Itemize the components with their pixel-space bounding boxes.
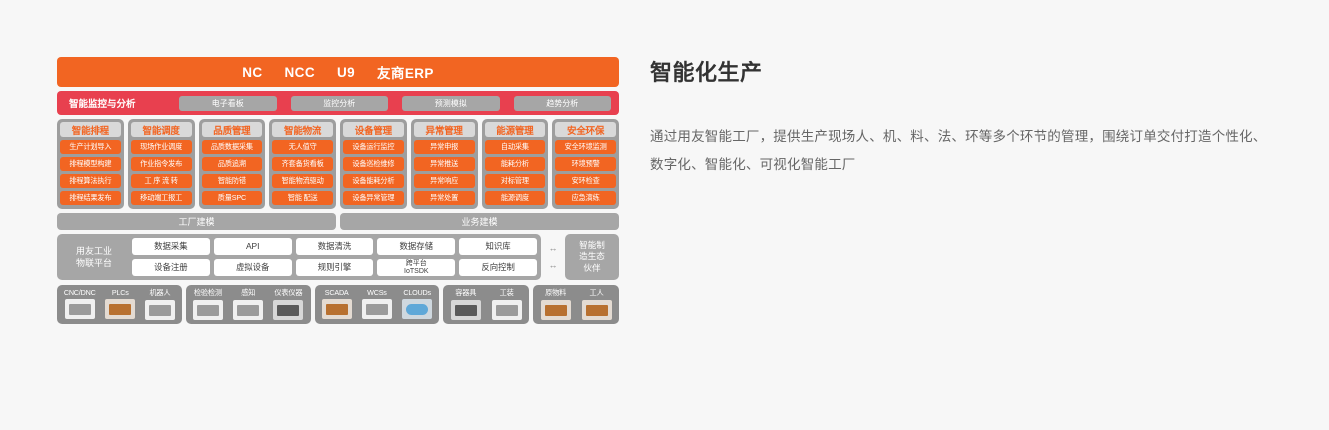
function-column-item[interactable]: 设备异常管理 (343, 191, 404, 205)
function-column-title: 能源管理 (485, 122, 546, 137)
partner-label-line3: 伙伴 (579, 263, 605, 274)
iot-platform-label: 用友工业 物联平台 (61, 245, 127, 269)
function-column-item[interactable]: 环境预警 (555, 157, 616, 171)
device-label: 工人 (590, 288, 604, 298)
cloud-icon (402, 299, 432, 319)
partner-label-line1: 智能制 (579, 240, 605, 251)
erp-product-item[interactable]: U9 (337, 65, 355, 80)
device-item[interactable]: PLCs (105, 288, 135, 320)
function-column-item[interactable]: 生产计划导入 (60, 140, 121, 154)
wcs-machine-icon (362, 299, 392, 319)
device-label: 容器具 (455, 288, 476, 298)
ecosystem-partner-box: 智能制 造生态 伙伴 (565, 234, 619, 280)
function-column-item[interactable]: 排程结果发布 (60, 191, 121, 205)
function-column-item[interactable]: 设备能耗分析 (343, 174, 404, 188)
function-column-item[interactable]: 异常响应 (414, 174, 475, 188)
device-layer-row: CNC/DNCPLCs机器人检验检测感知仪表仪器SCADAWCSsCLOUDs容… (57, 285, 619, 324)
iot-capability-cell[interactable]: 规则引擎 (296, 259, 374, 276)
bidirectional-arrow-icon: ↔ (549, 244, 558, 253)
device-label: 机器人 (149, 288, 170, 298)
iot-platform-row: 用友工业 物联平台 数据采集API数据清洗数据存储知识库设备注册虚拟设备规则引擎… (57, 234, 619, 280)
container-box-icon (451, 300, 481, 320)
device-item[interactable]: 容器具 (451, 288, 481, 320)
function-column-item[interactable]: 智能物流驱动 (272, 174, 333, 188)
function-column: 能源管理自动采集能耗分析对标管理能源调度 (482, 119, 549, 209)
function-column-item[interactable]: 现场作业调度 (131, 140, 192, 154)
device-group: 检验检测感知仪表仪器 (186, 285, 311, 324)
tooling-fixture-icon (492, 300, 522, 320)
device-group: CNC/DNCPLCs机器人 (57, 285, 182, 324)
function-column-item[interactable]: 智能防错 (202, 174, 263, 188)
function-column: 品质管理品质数据采集品质追溯智能防错质量SPC (199, 119, 266, 209)
function-column-item[interactable]: 自动采集 (485, 140, 546, 154)
device-label: 仪表仪器 (274, 288, 302, 298)
monitoring-chip-list: 电子看板监控分析预测模拟趋势分析 (179, 96, 611, 111)
iot-capability-cell[interactable]: 虚拟设备 (214, 259, 292, 276)
raw-material-icon (541, 300, 571, 320)
iot-platform-panel: 用友工业 物联平台 数据采集API数据清洗数据存储知识库设备注册虚拟设备规则引擎… (57, 234, 541, 280)
monitoring-chip[interactable]: 监控分析 (291, 96, 389, 111)
device-group: SCADAWCSsCLOUDs (315, 285, 440, 324)
function-column-item[interactable]: 作业指令发布 (131, 157, 192, 171)
iot-capability-cell[interactable]: 知识库 (459, 238, 537, 255)
cnc-machine-icon (65, 299, 95, 319)
function-column: 智能排程生产计划导入排程模型构建排程算法执行排程结果发布 (57, 119, 124, 209)
scada-screen-icon (322, 299, 352, 319)
function-column: 智能物流无人值守齐套备货看板智能物流驱动智能 配送 (269, 119, 336, 209)
device-item[interactable]: SCADA (322, 288, 352, 320)
iot-capability-line: IoTSDK (404, 268, 429, 276)
device-group: 原物料工人 (533, 285, 619, 324)
function-column: 安全环保安全环境监测环境预警安环检查应急演练 (552, 119, 619, 209)
monitoring-band-title: 智能监控与分析 (65, 96, 173, 110)
device-label: 检验检测 (194, 288, 222, 298)
robot-arm-icon (145, 300, 175, 320)
erp-product-item[interactable]: 友商ERP (377, 62, 434, 82)
function-column-item[interactable]: 应急演练 (555, 191, 616, 205)
modeling-cell[interactable]: 业务建模 (340, 213, 619, 230)
smart-factory-architecture-diagram: NCNCCU9友商ERP 智能监控与分析 电子看板监控分析预测模拟趋势分析 智能… (57, 57, 619, 324)
iot-capability-cell[interactable]: 反向控制 (459, 259, 537, 276)
function-column-title: 智能排程 (60, 122, 121, 137)
function-column-item[interactable]: 设备巡检维修 (343, 157, 404, 171)
monitoring-chip[interactable]: 趋势分析 (514, 96, 612, 111)
device-item[interactable]: WCSs (362, 288, 392, 320)
function-column-item[interactable]: 排程模型构建 (60, 157, 121, 171)
function-column-item[interactable]: 工 序 流 转 (131, 174, 192, 188)
function-columns: 智能排程生产计划导入排程模型构建排程算法执行排程结果发布智能调度现场作业调度作业… (57, 119, 619, 209)
function-column-item[interactable]: 异常处置 (414, 191, 475, 205)
device-item[interactable]: 检验检测 (193, 288, 223, 320)
device-item[interactable]: 仪表仪器 (273, 288, 303, 320)
function-column-item[interactable]: 能源调度 (485, 191, 546, 205)
function-column-item[interactable]: 安全环境监测 (555, 140, 616, 154)
device-label: CNC/DNC (64, 288, 96, 297)
iot-capability-cell[interactable]: 跨平台IoTSDK (377, 259, 455, 276)
modeling-cell[interactable]: 工厂建模 (57, 213, 336, 230)
device-label: PLCs (112, 288, 129, 297)
partner-label-line2: 造生态 (579, 251, 605, 262)
plc-controller-icon (105, 299, 135, 319)
monitoring-chip[interactable]: 预测模拟 (402, 96, 500, 111)
device-label: WCSs (367, 288, 387, 297)
iot-partner-connectors: ↔ ↔ (545, 234, 561, 280)
device-item[interactable]: CLOUDs (402, 288, 432, 320)
function-column-item[interactable]: 质量SPC (202, 191, 263, 205)
device-label: 原物料 (545, 288, 566, 298)
function-column: 设备管理设备运行监控设备巡检维修设备能耗分析设备异常管理 (340, 119, 407, 209)
erp-product-item[interactable]: NCC (285, 65, 315, 80)
iot-capability-line: 跨平台 (404, 260, 429, 268)
intelligent-monitoring-band: 智能监控与分析 电子看板监控分析预测模拟趋势分析 (57, 91, 619, 115)
page-root: NCNCCU9友商ERP 智能监控与分析 电子看板监控分析预测模拟趋势分析 智能… (0, 0, 1329, 430)
device-item[interactable]: 原物料 (541, 288, 571, 320)
iot-platform-label-line2: 物联平台 (61, 257, 127, 269)
function-column-item[interactable]: 排程算法执行 (60, 174, 121, 188)
device-item[interactable]: 工装 (492, 288, 522, 320)
function-column-item[interactable]: 安环检查 (555, 174, 616, 188)
modeling-row: 工厂建模业务建模 (57, 213, 619, 230)
function-column-title: 智能物流 (272, 122, 333, 137)
function-column-title: 品质管理 (202, 122, 263, 137)
description-text: 通过用友智能工厂，提供生产现场人、机、料、法、环等多个环节的管理，围绕订单交付打… (650, 123, 1270, 178)
function-column-title: 智能调度 (131, 122, 192, 137)
function-column-item[interactable]: 移动端工报工 (131, 191, 192, 205)
function-column-item[interactable]: 异常推送 (414, 157, 475, 171)
device-label: 工装 (500, 288, 514, 298)
sensor-display-icon (233, 300, 263, 320)
inspection-device-icon (193, 300, 223, 320)
bidirectional-arrow-icon: ↔ (549, 261, 558, 270)
function-column-item[interactable]: 品质追溯 (202, 157, 263, 171)
iot-capability-cell[interactable]: API (214, 238, 292, 255)
description-pane: 智能化生产 通过用友智能工厂，提供生产现场人、机、料、法、环等多个环节的管理，围… (650, 55, 1270, 178)
gauge-meter-icon (273, 300, 303, 320)
iot-platform-label-line1: 用友工业 (61, 245, 127, 257)
device-item[interactable]: 感知 (233, 288, 263, 320)
device-item[interactable]: 工人 (582, 288, 612, 320)
erp-product-bar: NCNCCU9友商ERP (57, 57, 619, 87)
device-item[interactable]: 机器人 (145, 288, 175, 320)
iot-capability-cell[interactable]: 数据存储 (377, 238, 455, 255)
function-column-title: 异常管理 (414, 122, 475, 137)
monitoring-chip[interactable]: 电子看板 (179, 96, 277, 111)
function-column-item[interactable]: 设备运行监控 (343, 140, 404, 154)
function-column-item[interactable]: 能耗分析 (485, 157, 546, 171)
function-column-item[interactable]: 对标管理 (485, 174, 546, 188)
device-item[interactable]: CNC/DNC (64, 288, 96, 320)
function-column-item[interactable]: 智能 配送 (272, 191, 333, 205)
function-column-item[interactable]: 异常申报 (414, 140, 475, 154)
device-group: 容器具工装 (443, 285, 529, 324)
erp-product-item[interactable]: NC (242, 65, 262, 80)
function-column-item[interactable]: 无人值守 (272, 140, 333, 154)
function-column-title: 安全环保 (555, 122, 616, 137)
worker-icon (582, 300, 612, 320)
iot-capability-cell[interactable]: 数据采集 (132, 238, 210, 255)
device-label: 感知 (241, 288, 255, 298)
function-column-item[interactable]: 齐套备货看板 (272, 157, 333, 171)
function-column: 异常管理异常申报异常推送异常响应异常处置 (411, 119, 478, 209)
page-title: 智能化生产 (650, 55, 1270, 87)
function-column-title: 设备管理 (343, 122, 404, 137)
function-column-item[interactable]: 品质数据采集 (202, 140, 263, 154)
iot-capability-cell[interactable]: 设备注册 (132, 259, 210, 276)
iot-capability-grid: 数据采集API数据清洗数据存储知识库设备注册虚拟设备规则引擎跨平台IoTSDK反… (132, 238, 537, 276)
device-label: CLOUDs (403, 288, 431, 297)
device-label: SCADA (325, 288, 349, 297)
iot-capability-cell[interactable]: 数据清洗 (296, 238, 374, 255)
function-column: 智能调度现场作业调度作业指令发布工 序 流 转移动端工报工 (128, 119, 195, 209)
